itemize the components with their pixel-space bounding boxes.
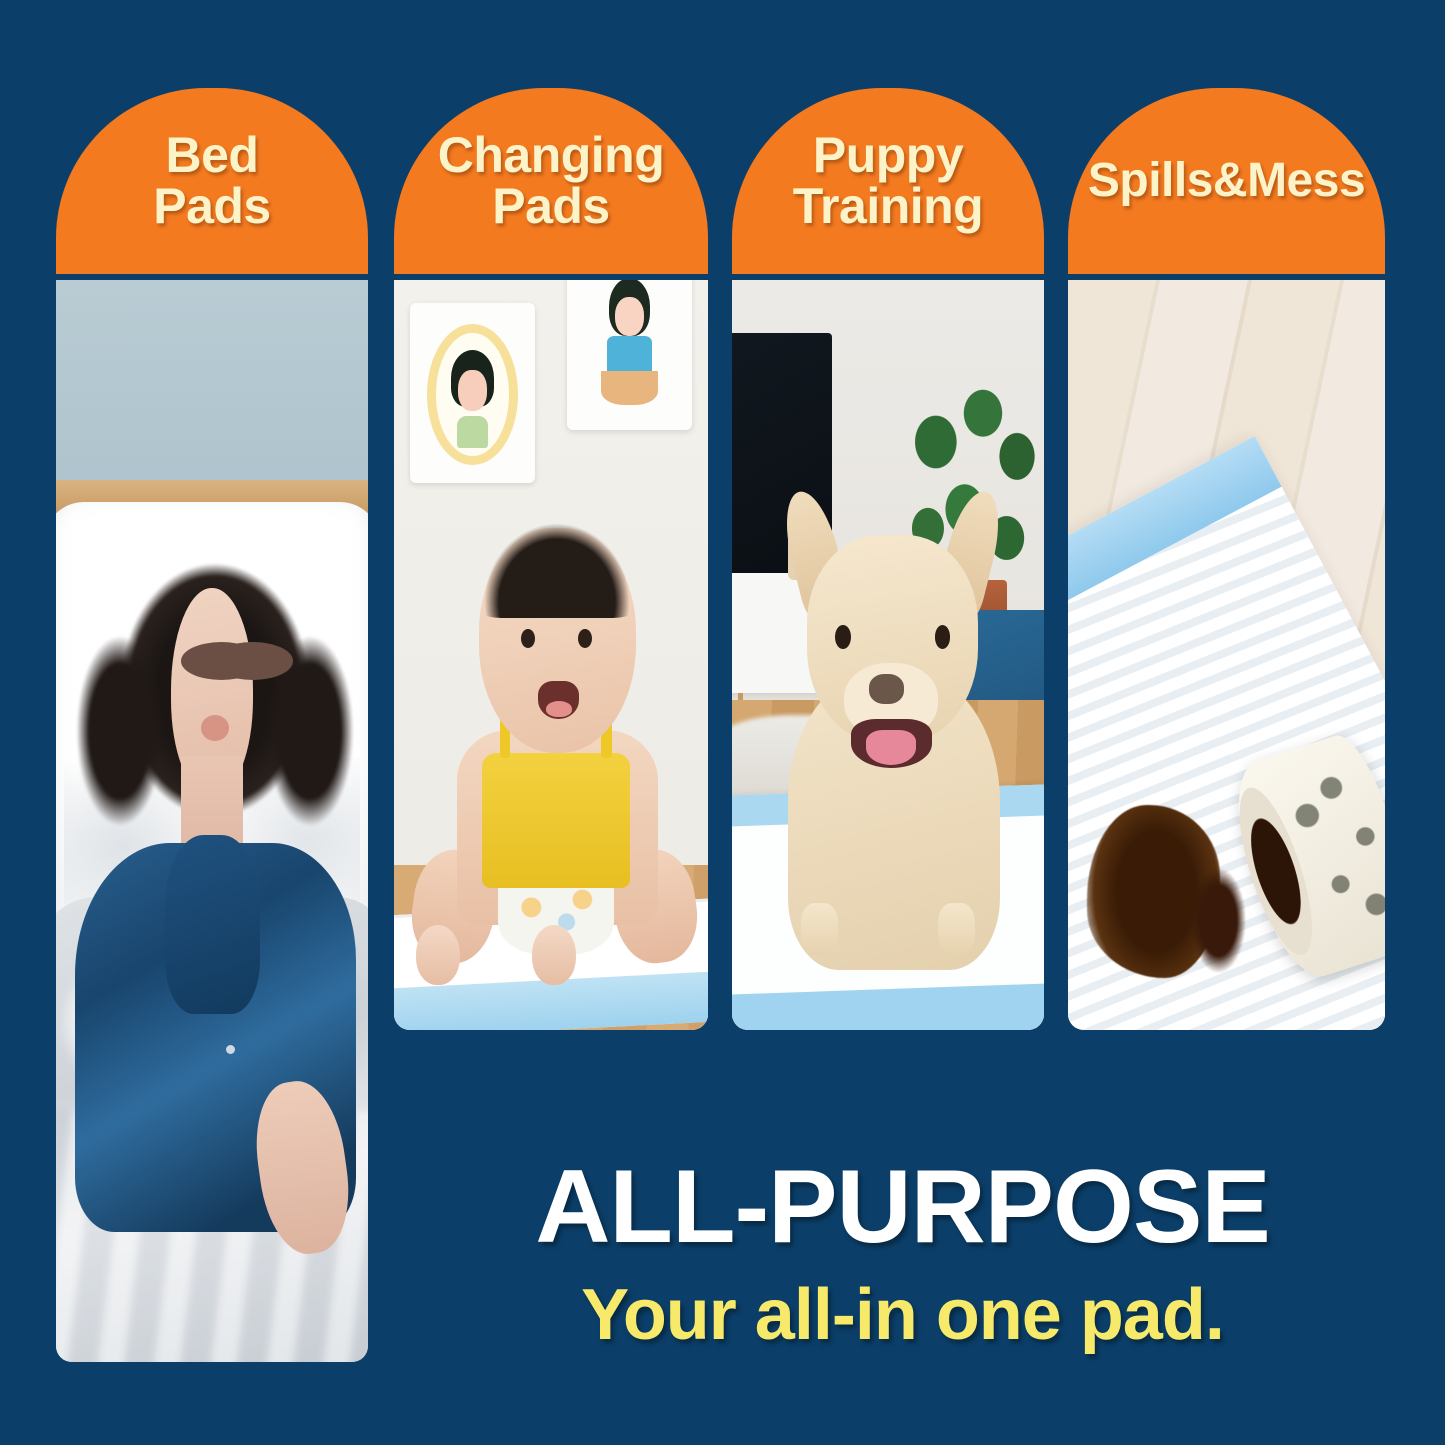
dog-tongue — [866, 730, 916, 765]
panel-changing-pads: Changing Pads — [394, 88, 708, 1030]
coffee-spill — [1087, 805, 1220, 978]
headline: ALL-PURPOSE — [400, 1155, 1405, 1259]
poster-boy-illustration — [589, 280, 669, 410]
dog-paw-left — [801, 903, 838, 956]
baby-yellow-top — [482, 753, 630, 888]
poster-boy-face — [615, 297, 644, 337]
panel-header-bed-pads: Bed Pads — [56, 88, 368, 274]
dog-eye-left — [835, 625, 851, 649]
footer-copy: ALL-PURPOSE Your all-in one pad. — [400, 1155, 1405, 1351]
panel-header-changing-pads: Changing Pads — [394, 88, 708, 274]
poster-boy-shirt — [607, 336, 652, 376]
panel-label-changing-pads: Changing Pads — [438, 130, 665, 233]
baby-foot-right — [532, 925, 576, 985]
pajama-button — [226, 1045, 235, 1054]
poster-boy-legs — [601, 371, 659, 405]
panel-puppy-training: Puppy Training — [732, 88, 1044, 1030]
panel-label-puppy-training: Puppy Training — [793, 130, 983, 233]
panel-photo-changing-pads — [394, 280, 708, 1030]
panel-photo-bed-pads — [56, 280, 368, 1362]
baby-eye-right — [578, 629, 592, 648]
poster-girl-dress — [457, 416, 489, 448]
dog-paw-right — [938, 903, 975, 956]
baby-hair — [469, 513, 645, 618]
bedroom-wall — [56, 280, 368, 496]
panel-label-bed-pads: Bed Pads — [153, 130, 271, 233]
poster-girl-illustration — [427, 324, 517, 464]
panel-photo-spills-and-mess — [1068, 280, 1385, 1030]
wall-poster-girl — [410, 303, 536, 483]
subheadline: Your all-in one pad. — [400, 1279, 1405, 1351]
panel-bed-pads: Bed Pads — [56, 88, 368, 1362]
baby-open-mouth — [538, 681, 579, 719]
panel-label-spills-and-mess: Spills&Mess — [1088, 156, 1365, 205]
promo-image: Bed Pads Changing Pads — [0, 0, 1445, 1445]
dog-nose — [869, 674, 903, 704]
wall-poster-boy — [567, 280, 693, 430]
woman-lips — [201, 715, 229, 741]
panel-header-puppy-training: Puppy Training — [732, 88, 1044, 274]
panel-header-spills-and-mess: Spills&Mess — [1068, 88, 1385, 274]
baby-foot-left — [416, 925, 460, 985]
panel-spills-and-mess: Spills&Mess — [1068, 88, 1385, 1030]
panel-photo-puppy-training — [732, 280, 1044, 1030]
